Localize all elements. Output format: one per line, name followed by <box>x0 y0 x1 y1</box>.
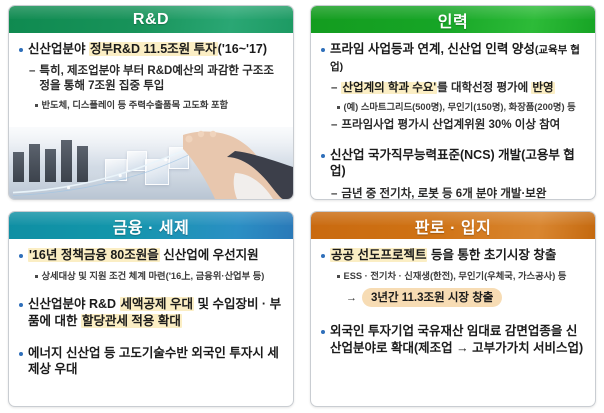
bullet-text: 프라임 사업등과 연계, 신산업 인력 양성(교육부 협업) <box>330 41 586 74</box>
arrow-right-icon: → <box>346 292 357 304</box>
bullet-primary: 신산업분야 R&D 세액공제 우대 및 수입장비 · 부품에 대한 할당관세 적… <box>18 296 284 329</box>
bullet-tertiary: 상세대상 및 지원 조건 체계 마련('16上, 금융위·산업부 등) <box>35 270 284 282</box>
bullet-tertiary: 반도체, 디스플레이 등 주력수출품목 고도화 포함 <box>35 99 284 111</box>
panel-market-location: 판로 · 입지 공공 선도프로젝트 등을 통한 초기시장 창출 ESS · 전기… <box>302 206 604 413</box>
small-bullet-dot-icon <box>35 275 38 278</box>
dash-icon: – <box>331 81 337 96</box>
highlight: 공공 선도프로젝트 <box>330 248 427 262</box>
bullet-dot-icon <box>321 254 325 258</box>
bullet-dot-icon <box>321 48 325 52</box>
highlight: 정부R&D 11.5조원 투자 <box>89 42 218 56</box>
bullet-text: 특히, 제조업분야 부터 R&D예산의 과감한 구조조정을 통해 7조원 집중 … <box>39 64 284 94</box>
panel-header-market-location: 판로 · 입지 <box>311 212 595 239</box>
bullet-text: 반도체, 디스플레이 등 주력수출품목 고도화 포함 <box>42 99 285 111</box>
bullet-text: 에너지 신산업 등 고도기술수반 외국인 투자시 세제상 우대 <box>28 345 284 378</box>
bullet-text: '16년 정책금융 80조원을 신산업에 우선지원 <box>28 247 284 263</box>
highlight: '16년 정책금융 80조원을 <box>28 248 160 262</box>
panel-body-market-location: 공공 선도프로젝트 등을 통한 초기시장 창출 ESS · 전기차 · 신재생(… <box>311 239 595 406</box>
bullet-text: ESS · 전기차 · 신재생(한전), 무인기(우체국, 가스공사) 등 <box>344 270 587 282</box>
panel-inner-finance-tax: 금융 · 세제 '16년 정책금융 80조원을 신산업에 우선지원 상세대상 및… <box>8 211 294 407</box>
spacer <box>18 285 284 296</box>
bullet-secondary: – 금년 중 전기차, 로봇 등 6개 분야 개발·보완 <box>331 187 586 200</box>
highlight: 할당관세 적용 확대 <box>81 314 182 328</box>
panel-manpower: 인력 프라임 사업등과 연계, 신산업 인력 양성(교육부 협업) – 산업계의… <box>302 0 604 206</box>
panel-body-finance-tax: '16년 정책금융 80조원을 신산업에 우선지원 상세대상 및 지원 조건 체… <box>9 239 293 406</box>
arrow-callout: → 3년간 11.3조원 시장 창출 <box>346 288 586 307</box>
spacer <box>320 136 586 147</box>
bullet-primary: '16년 정책금융 80조원을 신산업에 우선지원 <box>18 247 284 263</box>
bullet-tertiary: (예) 스마트그리드(500명), 무인기(150명), 화장품(200명) 등 <box>337 101 586 113</box>
bullet-primary: 신산업 국가직무능력표준(NCS) 개발(고용부 협업) <box>320 147 586 180</box>
panel-header-rnd: R&D <box>9 6 293 33</box>
bullet-text: 산업계의 학과 수요'를 대학선정 평가에 반영 <box>341 81 586 96</box>
bullet-text: (예) 스마트그리드(500명), 무인기(150명), 화장품(200명) 등 <box>344 101 587 113</box>
bullet-primary: 공공 선도프로젝트 등을 통한 초기시장 창출 <box>320 247 586 263</box>
callout-pill: 3년간 11.3조원 시장 창출 <box>362 288 502 307</box>
bullet-dot-icon <box>19 48 23 52</box>
bullet-dot-icon <box>19 352 23 356</box>
bullet-primary: 프라임 사업등과 연계, 신산업 인력 양성(교육부 협업) <box>320 41 586 74</box>
bullet-secondary: – 프라임사업 평가시 산업계위원 30% 이상 참여 <box>331 118 586 133</box>
bullet-dot-icon <box>19 303 23 307</box>
spacer <box>18 334 284 345</box>
bullet-dot-icon <box>321 330 325 334</box>
bullet-secondary: – 특히, 제조업분야 부터 R&D예산의 과감한 구조조정을 통해 7조원 집… <box>29 64 284 94</box>
spacer <box>18 382 284 402</box>
bullet-primary: 신산업분야 정부R&D 11.5조원 투자('16~'17) <box>18 41 284 57</box>
bullet-text: 외국인 투자기업 국유재산 임대료 감면업종을 신산업분야로 확대(제조업 → … <box>330 323 586 356</box>
bullet-text: 공공 선도프로젝트 등을 통한 초기시장 창출 <box>330 247 586 263</box>
panel-header-finance-tax: 금융 · 세제 <box>9 212 293 239</box>
spacer <box>320 310 586 323</box>
panel-inner-manpower: 인력 프라임 사업등과 연계, 신산업 인력 양성(교육부 협업) – 산업계의… <box>310 5 596 200</box>
bullet-text: 프라임사업 평가시 산업계위원 30% 이상 참여 <box>341 118 586 133</box>
panel-body-rnd: 신산업분야 정부R&D 11.5조원 투자('16~'17) – 특히, 제조업… <box>9 33 293 199</box>
panel-rnd: R&D 신산업분야 정부R&D 11.5조원 투자('16~'17) – 특히,… <box>0 0 302 206</box>
panel-finance-tax: 금융 · 세제 '16년 정책금융 80조원을 신산업에 우선지원 상세대상 및… <box>0 206 302 413</box>
bullet-text: 신산업 국가직무능력표준(NCS) 개발(고용부 협업) <box>330 147 586 180</box>
photo-hand-icon <box>175 127 293 199</box>
small-bullet-dot-icon <box>337 106 340 109</box>
panel-inner-market-location: 판로 · 입지 공공 선도프로젝트 등을 통한 초기시장 창출 ESS · 전기… <box>310 211 596 407</box>
bullet-text: 금년 중 전기차, 로봇 등 6개 분야 개발·보완 <box>341 187 586 200</box>
bullet-primary: 에너지 신산업 등 고도기술수반 외국인 투자시 세제상 우대 <box>18 345 284 378</box>
bullet-primary: 외국인 투자기업 국유재산 임대료 감면업종을 신산업분야로 확대(제조업 → … <box>320 323 586 356</box>
small-bullet-dot-icon <box>35 104 38 107</box>
spacer <box>18 114 284 125</box>
bullet-tertiary: ESS · 전기차 · 신재생(한전), 무인기(우체국, 가스공사) 등 <box>337 270 586 282</box>
dash-icon: – <box>331 187 337 200</box>
panel-inner-rnd: R&D 신산업분야 정부R&D 11.5조원 투자('16~'17) – 특히,… <box>8 5 294 200</box>
highlight: 세액공제 우대 <box>120 297 194 311</box>
bullet-secondary: – 산업계의 학과 수요'를 대학선정 평가에 반영 <box>331 81 586 96</box>
rnd-photo <box>9 127 293 199</box>
infographic-board: R&D 신산업분야 정부R&D 11.5조원 투자('16~'17) – 특히,… <box>0 0 604 413</box>
dash-icon: – <box>331 118 337 133</box>
small-bullet-dot-icon <box>337 275 340 278</box>
dash-icon: – <box>29 64 35 79</box>
bullet-text: 신산업분야 R&D 세액공제 우대 및 수입장비 · 부품에 대한 할당관세 적… <box>28 296 284 329</box>
spacer <box>320 361 586 402</box>
bullet-dot-icon <box>321 154 325 158</box>
bullet-text: 상세대상 및 지원 조건 체계 마련('16上, 금융위·산업부 등) <box>42 270 285 282</box>
highlight: 산업계의 학과 수요' <box>341 82 437 94</box>
panel-body-manpower: 프라임 사업등과 연계, 신산업 인력 양성(교육부 협업) – 산업계의 학과… <box>311 33 595 200</box>
panel-header-manpower: 인력 <box>311 6 595 33</box>
bullet-dot-icon <box>19 254 23 258</box>
highlight: 반영 <box>531 82 554 94</box>
bullet-text: 신산업분야 정부R&D 11.5조원 투자('16~'17) <box>28 41 284 57</box>
